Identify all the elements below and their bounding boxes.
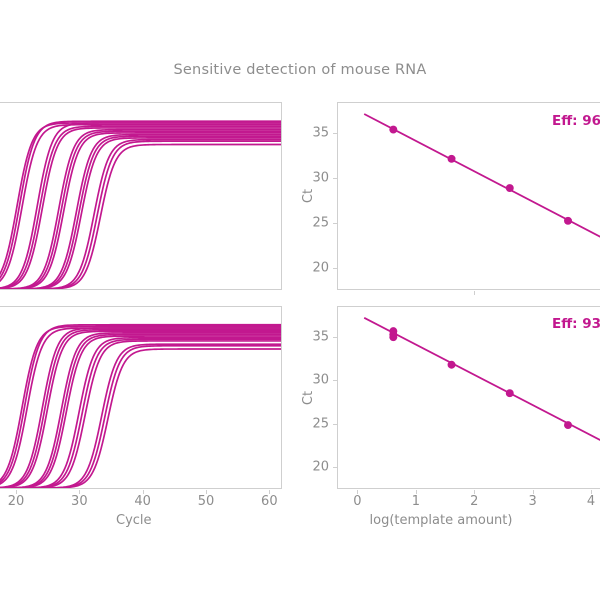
data-point xyxy=(506,389,514,397)
amplification-curve xyxy=(0,128,281,289)
x-tick-label-cycle: 40 xyxy=(134,494,151,509)
y-tick-ct-bottom xyxy=(333,337,337,338)
regression-line xyxy=(364,318,600,473)
amplification-curves-bottom-svg xyxy=(0,307,281,488)
x-axis-title-cycle: Cycle xyxy=(116,513,152,528)
x-tick-label-log-template: 4 xyxy=(587,494,595,509)
y-tick-label-ct-top: 35 xyxy=(296,126,329,141)
y-tick-label-ct-top: 20 xyxy=(296,260,329,275)
y-tick-ct-bottom xyxy=(333,424,337,425)
figure-title: Sensitive detection of mouse RNA xyxy=(0,62,600,78)
x-tick-label-log-template: 3 xyxy=(529,494,537,509)
y-tick-ct-top xyxy=(333,223,337,224)
amplification-curve xyxy=(0,341,281,488)
y-axis-title-ct-bottom: Ct xyxy=(301,391,316,405)
y-tick-label-ct-bottom: 25 xyxy=(296,416,329,431)
x-tick-label-cycle: 60 xyxy=(261,494,278,509)
amplification-curve xyxy=(0,339,281,488)
amplification-curve xyxy=(0,328,281,488)
y-tick-label-ct-bottom: 20 xyxy=(296,460,329,475)
x-tick-label-log-template: 0 xyxy=(353,494,361,509)
y-tick-ct-top xyxy=(333,178,337,179)
x-tick-top-panel-stub xyxy=(474,291,475,295)
x-tick-label-log-template: 1 xyxy=(412,494,420,509)
standard-curve-bottom-svg xyxy=(338,307,600,488)
efficiency-annotation-top: Eff: 96 xyxy=(552,113,600,129)
amplification-curve xyxy=(0,141,281,289)
amplification-curves-top-svg xyxy=(0,103,281,289)
panel-standard-curve-top xyxy=(337,102,600,290)
standard-curve-top-svg xyxy=(338,103,600,289)
y-tick-label-ct-bottom: 30 xyxy=(296,373,329,388)
standard-curve-group xyxy=(364,318,600,473)
x-axis-title-log-template: log(template amount) xyxy=(370,513,513,528)
efficiency-annotation-bottom: Eff: 93 xyxy=(552,316,600,332)
y-tick-ct-bottom xyxy=(333,467,337,468)
y-tick-label-ct-top: 30 xyxy=(296,171,329,186)
amplification-curve-group xyxy=(0,325,281,488)
regression-line xyxy=(364,114,600,270)
panel-amplification-bottom xyxy=(0,306,282,489)
data-point xyxy=(448,155,456,163)
y-tick-label-ct-top: 25 xyxy=(296,215,329,230)
y-tick-ct-bottom xyxy=(333,380,337,381)
amplification-curve xyxy=(0,344,281,488)
panel-standard-curve-bottom xyxy=(337,306,600,489)
data-point xyxy=(389,126,397,134)
amplification-curve xyxy=(0,140,281,289)
x-tick-label-cycle: 30 xyxy=(71,494,88,509)
data-point xyxy=(389,333,397,341)
standard-curve-group xyxy=(364,114,600,270)
x-tick-label-log-template: 2 xyxy=(470,494,478,509)
y-tick-ct-top xyxy=(333,268,337,269)
amplification-curve-group xyxy=(0,121,281,289)
amplification-curve xyxy=(0,346,281,488)
panel-amplification-top xyxy=(0,102,282,290)
amplification-curve xyxy=(0,145,281,289)
y-axis-title-ct-top: Ct xyxy=(301,189,316,203)
data-point xyxy=(564,217,572,225)
data-point xyxy=(564,421,572,429)
x-tick-label-cycle: 50 xyxy=(198,494,215,509)
figure-container: Sensitive detection of mouse RNA Eff: 96… xyxy=(0,0,600,600)
data-point xyxy=(448,361,456,369)
data-point xyxy=(506,184,514,192)
y-tick-label-ct-bottom: 35 xyxy=(296,329,329,344)
y-tick-ct-top xyxy=(333,133,337,134)
x-tick-label-cycle: 20 xyxy=(8,494,25,509)
